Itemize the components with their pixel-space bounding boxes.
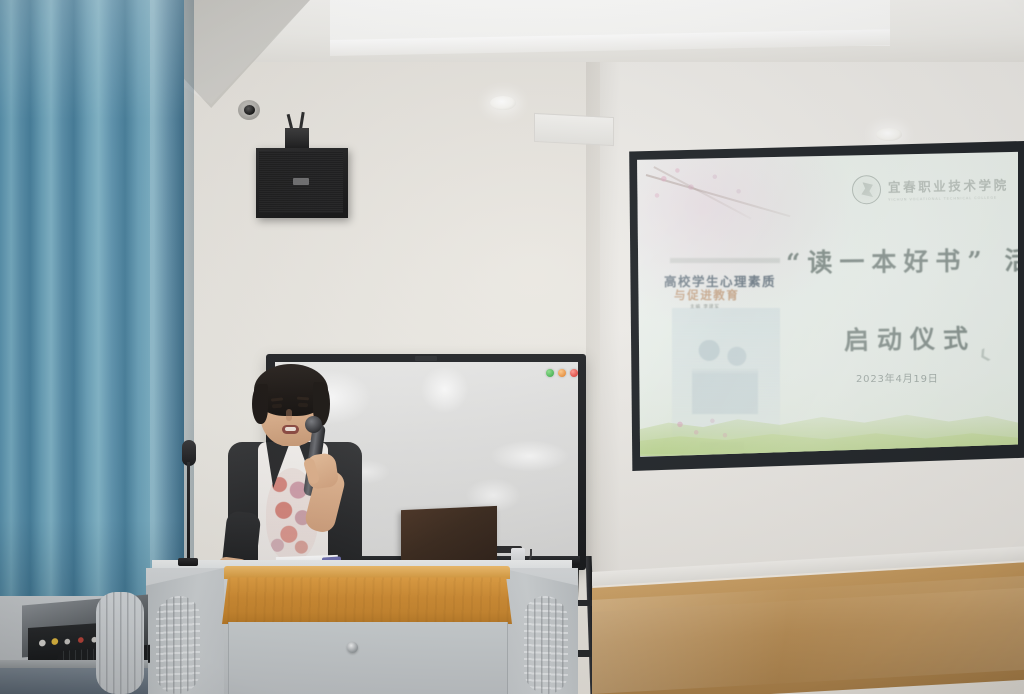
lecture-hall-photo: 宜春职业技术学院 YICHUN VOCATIONAL TECHNICAL COL…	[0, 0, 1024, 694]
speaker-wall-bracket	[285, 128, 309, 150]
book-cover-figure	[692, 340, 758, 414]
slide-decorative-mark: ❮	[976, 346, 993, 364]
eye-left	[272, 404, 282, 409]
wall-corner-shadow	[586, 0, 620, 600]
projection-screen-surface: 宜春职业技术学院 YICHUN VOCATIONAL TECHNICAL COL…	[634, 150, 1018, 460]
downlight-icon	[876, 128, 902, 141]
hair-side-left	[252, 384, 268, 424]
curtain-highlight	[0, 0, 184, 120]
gooseneck-microphone-stem	[187, 462, 190, 564]
slide-subheadline: 启动仪式	[844, 319, 977, 357]
teeth	[285, 427, 296, 431]
standby-dot-orange-icon	[558, 369, 566, 377]
laptop-lid[interactable]	[401, 506, 497, 568]
power-dot-green-icon	[546, 369, 554, 377]
microphone-head-icon	[305, 416, 322, 433]
podium-wood-edge	[224, 566, 510, 579]
institution-name-cn: 宜春职业技术学院	[888, 174, 1009, 195]
air-vent-panel	[534, 113, 614, 146]
nose	[286, 409, 292, 421]
downlight-icon	[490, 96, 516, 110]
rack-side-grille	[96, 592, 144, 694]
slide-institution-logo: 宜春职业技术学院 YICHUN VOCATIONAL TECHNICAL COL…	[852, 172, 1009, 204]
speaker-presenter	[214, 362, 374, 577]
slide-headline: “读一本好书” 活动	[786, 241, 1018, 280]
speaker-grille-left	[156, 595, 200, 694]
speaker-grille-right	[524, 595, 568, 694]
podium-wood-grain	[222, 570, 512, 624]
camera-lens-icon	[244, 105, 255, 115]
book-eyebrow-rule	[670, 258, 780, 263]
book-cover-subtitle: 与促进教育	[674, 287, 740, 303]
cherry-blossom-icon	[640, 158, 810, 262]
record-dot-red-icon	[570, 369, 578, 377]
whiteboard-brand-badge	[415, 356, 437, 361]
slide-hill-blossoms	[662, 410, 752, 446]
cylinder-lock-icon[interactable]	[347, 642, 358, 653]
slide-date: 2023年4月19日	[856, 370, 939, 385]
podium-front-panel	[228, 622, 508, 694]
eye-right	[298, 403, 308, 408]
seal-emblem-icon	[852, 175, 882, 205]
microphone-base	[178, 558, 198, 566]
institution-name-en: YICHUN VOCATIONAL TECHNICAL COLLEGE	[888, 195, 1009, 201]
speaker-brand-logo	[293, 178, 309, 185]
